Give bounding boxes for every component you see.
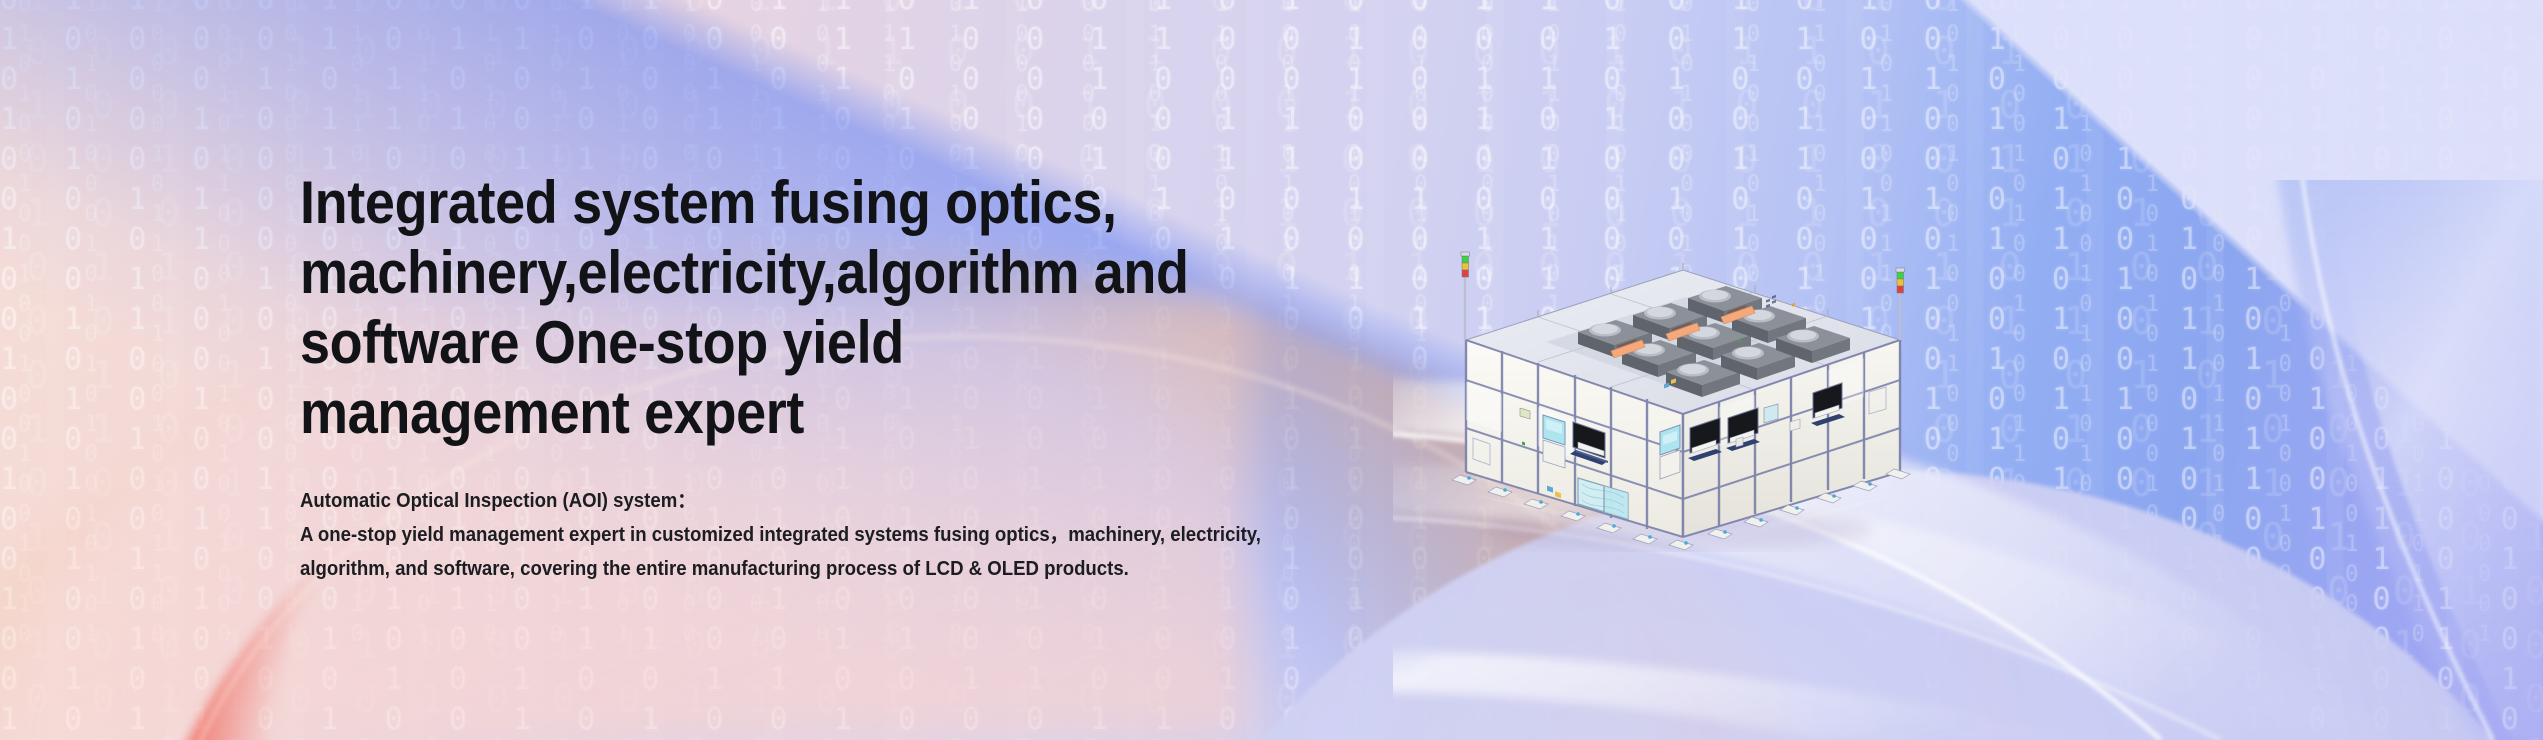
page-title: Integrated system fusing optics, machine… [300,168,1317,448]
signal-tower-left [1461,252,1470,340]
hero-banner: 0 1 1 0 0 1 0 0 0 1 1 0 1 1 0 1 0 0 1 0 … [0,0,2543,740]
aoi-machine-illustration [1428,232,1938,552]
description-lead: Automatic Optical Inspection (AOI) syste… [300,484,1351,518]
description-paragraph: A one-stop yield management expert in cu… [300,518,1351,586]
hero-text-block: Integrated system fusing optics, machine… [300,168,1430,586]
signal-tower-right [1896,268,1905,340]
hero-description: Automatic Optical Inspection (AOI) syste… [300,484,1351,586]
